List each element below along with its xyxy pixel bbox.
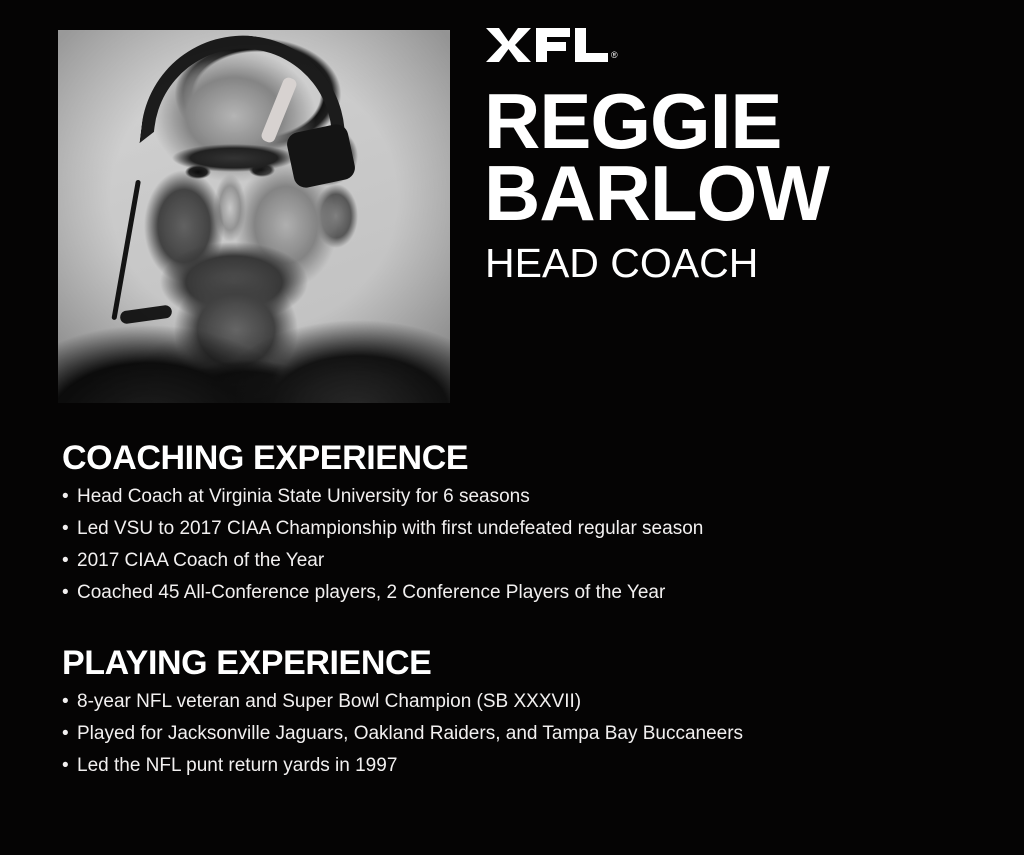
xfl-wordmark-icon bbox=[486, 28, 608, 62]
playing-experience-list: • 8-year NFL veteran and Super Bowl Cham… bbox=[62, 692, 962, 775]
coach-profile-card: ® REGGIE BARLOW HEAD COACH COACHING EXPE… bbox=[0, 0, 1024, 855]
list-item: • Coached 45 All-Conference players, 2 C… bbox=[62, 583, 962, 602]
coach-first-name: REGGIE bbox=[484, 86, 1024, 158]
coach-portrait-photo bbox=[58, 30, 450, 403]
bullet-dot-icon: • bbox=[62, 692, 77, 711]
photo-vignette bbox=[58, 30, 450, 403]
list-item-text: 2017 CIAA Coach of the Year bbox=[77, 551, 962, 570]
bullet-dot-icon: • bbox=[62, 519, 77, 538]
list-item: • Led the NFL punt return yards in 1997 bbox=[62, 756, 962, 775]
bullet-dot-icon: • bbox=[62, 583, 77, 602]
coaching-experience-list: • Head Coach at Virginia State Universit… bbox=[62, 487, 962, 602]
list-item: • 8-year NFL veteran and Super Bowl Cham… bbox=[62, 692, 962, 711]
section-heading-playing: PLAYING EXPERIENCE bbox=[62, 646, 962, 682]
list-item: • 2017 CIAA Coach of the Year bbox=[62, 551, 962, 570]
bullet-dot-icon: • bbox=[62, 756, 77, 775]
list-item-text: Played for Jacksonville Jaguars, Oakland… bbox=[77, 724, 962, 743]
list-item: • Played for Jacksonville Jaguars, Oakla… bbox=[62, 724, 962, 743]
coach-name: REGGIE BARLOW bbox=[484, 86, 1024, 230]
xfl-logo: ® bbox=[486, 26, 618, 62]
section-playing-experience: PLAYING EXPERIENCE • 8-year NFL veteran … bbox=[62, 646, 962, 788]
list-item: • Head Coach at Virginia State Universit… bbox=[62, 487, 962, 506]
section-coaching-experience: COACHING EXPERIENCE • Head Coach at Virg… bbox=[62, 441, 962, 615]
list-item-text: Coached 45 All-Conference players, 2 Con… bbox=[77, 583, 962, 602]
list-item-text: Head Coach at Virginia State University … bbox=[77, 487, 962, 506]
list-item-text: Led VSU to 2017 CIAA Championship with f… bbox=[77, 519, 962, 538]
list-item-text: Led the NFL punt return yards in 1997 bbox=[77, 756, 962, 775]
section-heading-coaching: COACHING EXPERIENCE bbox=[62, 441, 962, 477]
bullet-dot-icon: • bbox=[62, 551, 77, 570]
bullet-dot-icon: • bbox=[62, 487, 77, 506]
coach-last-name: BARLOW bbox=[484, 158, 1024, 230]
list-item: • Led VSU to 2017 CIAA Championship with… bbox=[62, 519, 962, 538]
bullet-dot-icon: • bbox=[62, 724, 77, 743]
coach-role-title: HEAD COACH bbox=[485, 240, 758, 287]
list-item-text: 8-year NFL veteran and Super Bowl Champi… bbox=[77, 692, 962, 711]
trademark-symbol: ® bbox=[611, 51, 618, 60]
